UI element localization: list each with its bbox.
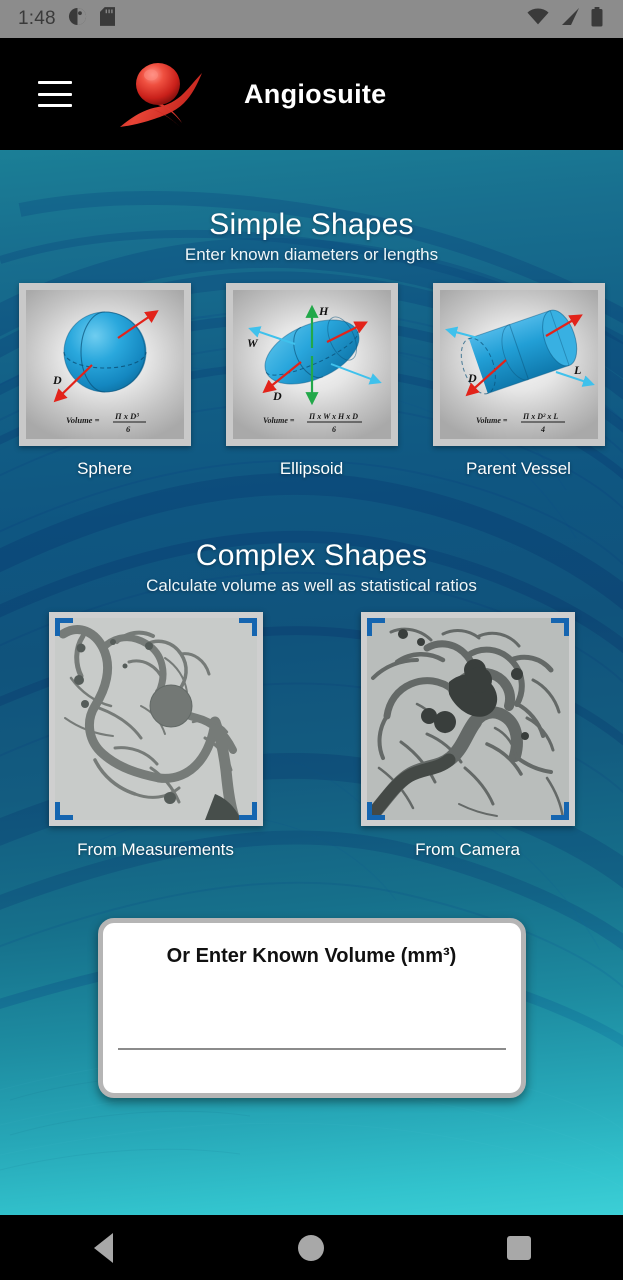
known-volume-input[interactable] — [118, 1010, 506, 1050]
shape-label-parent-vessel: Parent Vessel — [466, 459, 571, 479]
svg-text:L: L — [573, 363, 581, 377]
svg-text:6: 6 — [332, 425, 336, 434]
complex-shapes-section: Complex Shapes Calculate volume as well … — [0, 539, 623, 596]
known-volume-card-wrap: Or Enter Known Volume (mm³) — [0, 918, 623, 1098]
svg-text:Π x W x H x D: Π x W x H x D — [308, 412, 358, 421]
from-measurements-frame — [49, 612, 263, 826]
from-camera-frame — [361, 612, 575, 826]
complex-card-from-measurements[interactable]: From Measurements — [49, 612, 263, 860]
status-bar-left-icons — [68, 7, 115, 31]
corner-marker-top-left — [367, 618, 385, 636]
status-bar-right-icons — [527, 7, 603, 32]
do-not-disturb-icon — [68, 7, 87, 31]
shape-card-sphere[interactable]: D Volume = Π x D³ 6 Sphere — [19, 283, 191, 479]
svg-text:Volume =: Volume = — [66, 415, 100, 425]
svg-text:4: 4 — [540, 425, 545, 434]
app-bar: Angiosuite — [0, 38, 623, 150]
svg-text:Volume =: Volume = — [476, 416, 508, 425]
corner-marker-bottom-right — [239, 802, 257, 820]
shape-label-ellipsoid: Ellipsoid — [280, 459, 343, 479]
back-triangle-icon — [94, 1233, 113, 1263]
angiogram-vessel-image — [367, 618, 569, 820]
wifi-icon — [527, 8, 549, 31]
corner-marker-top-right — [551, 618, 569, 636]
status-bar: 1:48 — [0, 0, 623, 38]
sphere-card-frame: D Volume = Π x D³ 6 — [19, 283, 191, 446]
svg-text:6: 6 — [126, 424, 131, 434]
sd-card-icon — [100, 7, 115, 31]
ellipsoid-diagram: H W D Volume = Π x W x H x D 6 — [233, 290, 391, 439]
hamburger-menu-icon[interactable] — [38, 81, 72, 107]
simple-shapes-subtitle: Enter known diameters or lengths — [0, 245, 623, 265]
known-volume-card: Or Enter Known Volume (mm³) — [98, 918, 526, 1098]
complex-card-from-camera[interactable]: From Camera — [361, 612, 575, 860]
corner-marker-top-right — [239, 618, 257, 636]
corner-marker-bottom-right — [551, 802, 569, 820]
known-volume-title: Or Enter Known Volume (mm³) — [167, 945, 457, 968]
simple-shapes-section: Simple Shapes Enter known diameters or l… — [0, 208, 623, 265]
battery-icon — [591, 7, 603, 32]
complex-shapes-subtitle: Calculate volume as well as statistical … — [0, 576, 623, 596]
svg-text:D: D — [272, 389, 282, 403]
simple-shapes-title: Simple Shapes — [0, 208, 623, 242]
svg-text:Π x D³: Π x D³ — [114, 411, 139, 421]
complex-shapes-row: From Measurements — [0, 612, 623, 860]
svg-text:H: H — [318, 304, 329, 318]
corner-marker-top-left — [55, 618, 73, 636]
simple-shapes-row: D Volume = Π x D³ 6 Sphere — [0, 283, 623, 479]
svg-text:Π x D² x L: Π x D² x L — [522, 412, 558, 421]
svg-text:D: D — [467, 371, 477, 385]
complex-shapes-title: Complex Shapes — [0, 539, 623, 573]
corner-marker-bottom-left — [367, 802, 385, 820]
nav-back-button[interactable] — [59, 1215, 149, 1280]
phone-screen: 1:48 — [0, 0, 623, 1280]
ellipsoid-card-frame: H W D Volume = Π x W x H x D 6 — [226, 283, 398, 446]
complex-label-from-measurements: From Measurements — [77, 840, 234, 860]
angiogram-aneurysm-image — [55, 618, 257, 820]
main-content: Simple Shapes Enter known diameters or l… — [0, 150, 623, 1215]
cellular-signal-icon — [560, 8, 580, 31]
home-circle-icon — [298, 1235, 324, 1261]
nav-recents-button[interactable] — [474, 1215, 564, 1280]
angiosuite-logo-icon — [112, 51, 212, 137]
corner-marker-bottom-left — [55, 802, 73, 820]
nav-home-button[interactable] — [266, 1215, 356, 1280]
status-bar-clock: 1:48 — [18, 8, 56, 30]
shape-card-ellipsoid[interactable]: H W D Volume = Π x W x H x D 6 — [226, 283, 398, 479]
app-title: Angiosuite — [244, 79, 387, 110]
parent-vessel-card-frame: D L Volume = Π x D² x L 4 — [433, 283, 605, 446]
complex-label-from-camera: From Camera — [415, 840, 520, 860]
shape-label-sphere: Sphere — [77, 459, 132, 479]
svg-text:D: D — [52, 373, 62, 387]
sphere-diagram: D Volume = Π x D³ 6 — [26, 290, 184, 439]
android-navigation-bar — [0, 1215, 623, 1280]
svg-text:W: W — [247, 336, 259, 350]
recents-square-icon — [507, 1236, 531, 1260]
cylinder-diagram: D L Volume = Π x D² x L 4 — [440, 290, 598, 439]
svg-text:Volume =: Volume = — [263, 416, 295, 425]
shape-card-parent-vessel[interactable]: D L Volume = Π x D² x L 4 — [433, 283, 605, 479]
